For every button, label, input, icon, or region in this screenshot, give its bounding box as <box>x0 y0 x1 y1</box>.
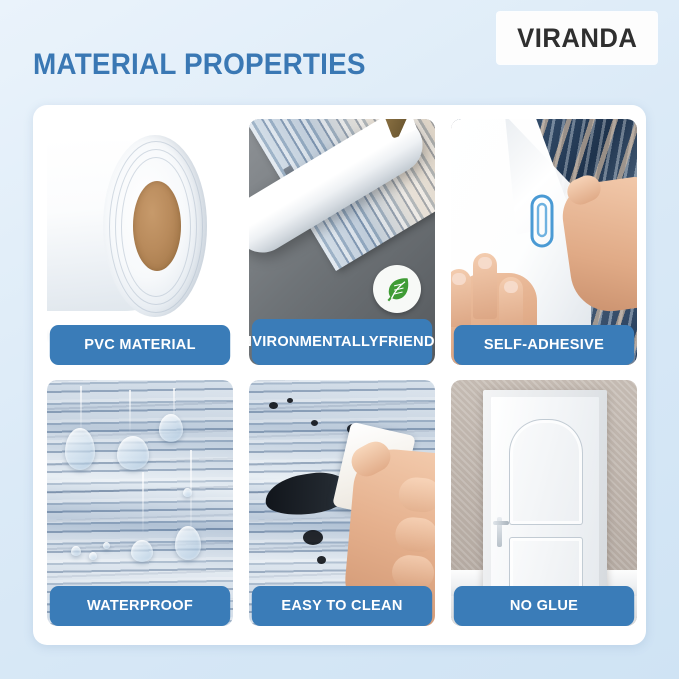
feature-card-waterproof: WATERPROOF <box>47 380 233 626</box>
label-line-2: FRIENDLY <box>379 334 435 351</box>
water-droplet <box>89 552 97 560</box>
droplet-trail <box>80 386 82 432</box>
water-droplet <box>103 542 110 549</box>
water-droplet <box>175 526 201 560</box>
feature-label-easy-to-clean: EASY TO CLEAN <box>252 586 432 626</box>
door-upper-panel <box>509 419 583 525</box>
feature-card-pvc-material: PVC MATERIAL <box>47 119 233 365</box>
stain-spot <box>287 398 293 403</box>
page-title: MATERIAL PROPERTIES <box>33 48 366 82</box>
feature-label-self-adhesive: SELF-ADHESIVE <box>454 325 634 365</box>
feature-card-environmentally-friendly: ENVIRONMENTALLY FRIENDLY <box>249 119 435 365</box>
eco-badge <box>373 265 421 313</box>
feature-label-environmentally-friendly: ENVIRONMENTALLY FRIENDLY <box>252 319 432 365</box>
stain-spot <box>311 420 318 426</box>
door-handle-lever <box>493 521 509 525</box>
brand-logo: VIRANDA <box>497 12 657 64</box>
stain-spot <box>269 402 278 409</box>
door-frame <box>483 390 607 596</box>
fingernail-shape <box>478 257 492 269</box>
sheet-corner-tip <box>384 119 417 139</box>
knuckle-shape <box>397 476 435 514</box>
infographic-page: VIRANDA MATERIAL PROPERTIES PVC MATERIAL <box>0 0 679 679</box>
water-droplet <box>117 436 149 470</box>
feature-card-self-adhesive: SELF-ADHESIVE <box>451 119 637 365</box>
fingernail-shape <box>504 281 518 293</box>
droplet-trail <box>142 472 144 532</box>
droplet-trail <box>129 390 131 432</box>
water-droplet <box>183 488 192 497</box>
feature-card-easy-to-clean: EASY TO CLEAN <box>249 380 435 626</box>
feature-label-pvc-material: PVC MATERIAL <box>50 325 230 365</box>
feature-label-no-glue: NO GLUE <box>454 586 634 626</box>
feature-label-waterproof: WATERPROOF <box>50 586 230 626</box>
cardboard-core-shape <box>133 181 181 271</box>
knuckle-shape <box>394 516 435 554</box>
stain-spot <box>303 530 323 545</box>
water-droplet <box>71 546 81 556</box>
stain-spot <box>317 556 326 564</box>
water-droplet <box>65 428 95 470</box>
paperclip-icon <box>529 193 555 249</box>
finger-shape <box>451 269 471 327</box>
fingernail-shape <box>452 273 466 285</box>
door-panel <box>491 397 599 596</box>
feature-grid: PVC MATERIAL <box>47 119 637 626</box>
finger-shape <box>473 253 497 319</box>
water-droplet <box>159 414 183 442</box>
feature-panel: PVC MATERIAL <box>33 105 646 645</box>
label-line-1: ENVIRONMENTALLY <box>249 334 379 351</box>
brand-name: VIRANDA <box>517 23 637 54</box>
leaf-icon <box>382 274 412 304</box>
feature-card-no-glue: NO GLUE <box>451 380 637 626</box>
water-droplet <box>131 540 153 562</box>
